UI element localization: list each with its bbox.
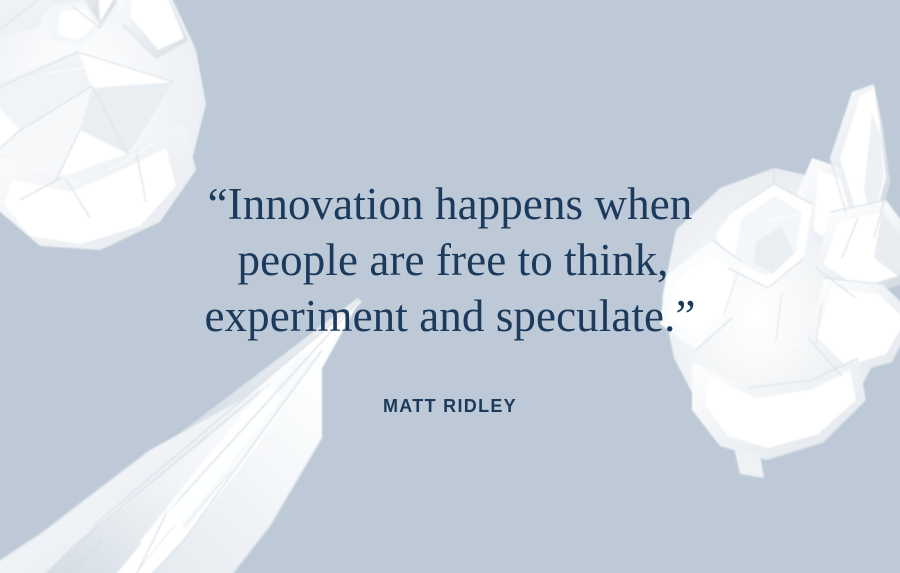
quote-line-2: people are free to think,	[0, 232, 900, 288]
quote-poster: “Innovation happens when people are free…	[0, 0, 900, 573]
quote-text: “Innovation happens when people are free…	[0, 176, 900, 344]
quote-line-3: experiment and speculate.”	[0, 288, 900, 344]
quote-line-1: “Innovation happens when	[0, 176, 900, 232]
quote-attribution: MATT RIDLEY	[0, 396, 900, 417]
